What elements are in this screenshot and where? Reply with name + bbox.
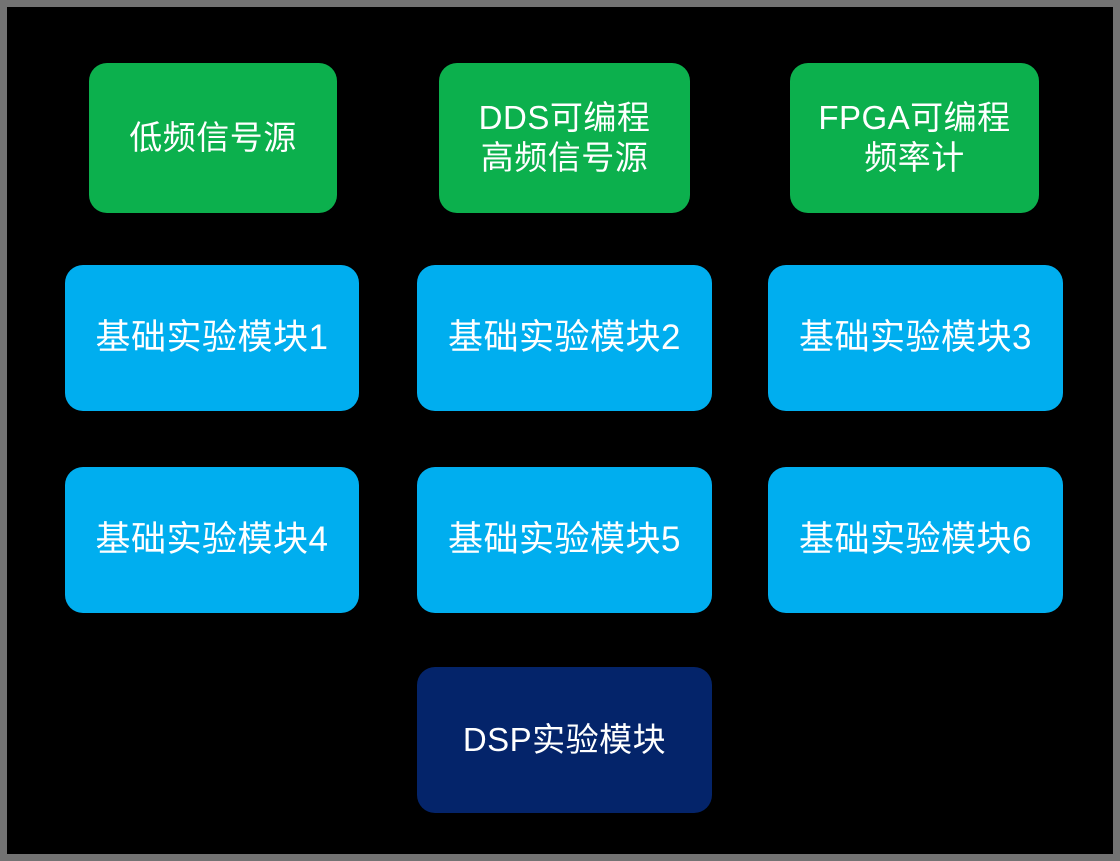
node-basic-module-6[interactable]: 基础实验模块6 xyxy=(768,467,1063,613)
node-basic-module-4[interactable]: 基础实验模块4 xyxy=(65,467,359,613)
node-basic-module-1-label: 基础实验模块1 xyxy=(86,317,339,360)
node-fpga-freq-meter-label: FPGA可编程 频率计 xyxy=(808,98,1020,179)
node-basic-module-1[interactable]: 基础实验模块1 xyxy=(65,265,359,411)
node-basic-module-2-label: 基础实验模块2 xyxy=(438,317,691,360)
node-low-freq-source[interactable]: 低频信号源 xyxy=(89,63,337,213)
node-basic-module-3[interactable]: 基础实验模块3 xyxy=(768,265,1063,411)
node-dds-hf-source-label: DDS可编程 高频信号源 xyxy=(469,98,661,179)
node-basic-module-5-label: 基础实验模块5 xyxy=(438,519,691,562)
node-fpga-freq-meter[interactable]: FPGA可编程 频率计 xyxy=(790,63,1039,213)
node-basic-module-6-label: 基础实验模块6 xyxy=(789,519,1042,562)
node-dsp-module-label: DSP实验模块 xyxy=(453,720,676,760)
node-basic-module-3-label: 基础实验模块3 xyxy=(789,317,1042,360)
node-dds-hf-source[interactable]: DDS可编程 高频信号源 xyxy=(439,63,690,213)
node-low-freq-source-label: 低频信号源 xyxy=(119,118,307,158)
node-basic-module-5[interactable]: 基础实验模块5 xyxy=(417,467,712,613)
diagram-canvas: 低频信号源 DDS可编程 高频信号源 FPGA可编程 频率计 基础实验模块1 基… xyxy=(0,0,1120,861)
node-dsp-module[interactable]: DSP实验模块 xyxy=(417,667,712,813)
node-basic-module-4-label: 基础实验模块4 xyxy=(86,519,339,562)
node-basic-module-2[interactable]: 基础实验模块2 xyxy=(417,265,712,411)
